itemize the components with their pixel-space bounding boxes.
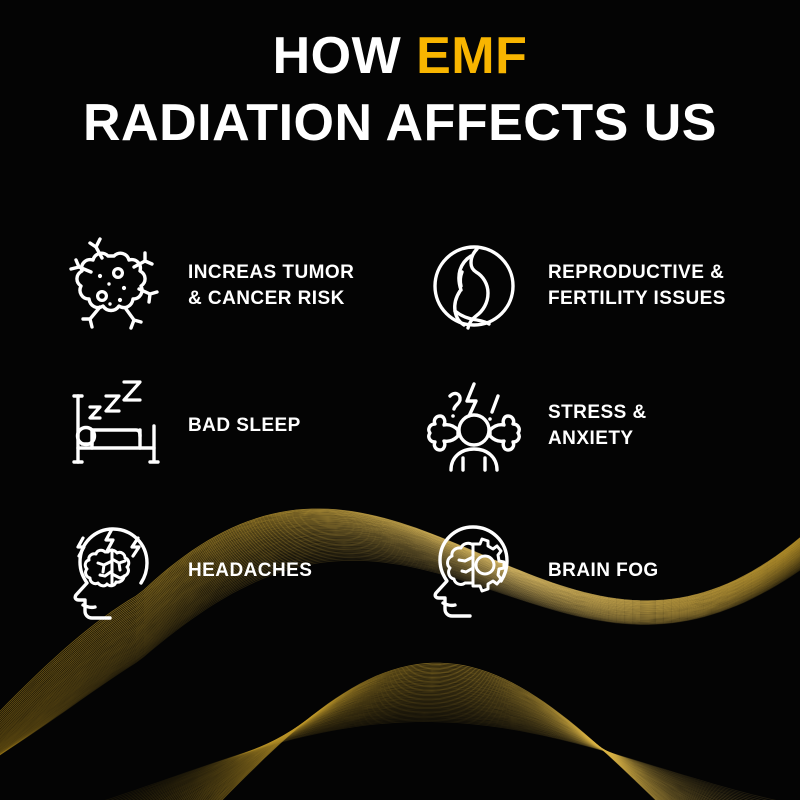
tumor-cell-icon — [62, 234, 166, 338]
list-item-brain-fog: BRAIN FOG — [422, 496, 762, 646]
page-title: HOW EMF RADIATION AFFECTS US — [0, 30, 800, 150]
list-item-label: STRESS & ANXIETY — [548, 400, 647, 452]
list-item-label: BAD SLEEP — [188, 413, 301, 439]
list-item-label: HEADACHES — [188, 558, 312, 584]
title-line-1: HOW EMF — [0, 30, 800, 83]
stressed-person-icon — [422, 374, 526, 478]
title-line-2: RADIATION AFFECTS US — [0, 97, 800, 150]
effects-list: INCREAS TUMOR & CANCER RISK REPRODUCTIVE… — [62, 216, 762, 646]
pregnant-woman-circle-icon — [422, 234, 526, 338]
infographic-canvas: HOW EMF RADIATION AFFECTS US — [0, 0, 800, 800]
bed-sleep-zzz-icon — [62, 374, 166, 478]
list-item-reproductive-fertility: REPRODUCTIVE & FERTILITY ISSUES — [422, 216, 762, 356]
list-item-stress-anxiety: STRESS & ANXIETY — [422, 356, 762, 496]
list-item-label: BRAIN FOG — [548, 558, 659, 584]
title-prefix: HOW — [273, 27, 417, 85]
list-item-bad-sleep: BAD SLEEP — [62, 356, 422, 496]
list-item-tumor-cancer: INCREAS TUMOR & CANCER RISK — [62, 216, 422, 356]
list-item-label: INCREAS TUMOR & CANCER RISK — [188, 260, 354, 312]
list-item-headaches: HEADACHES — [62, 496, 422, 646]
head-brain-gear-icon — [422, 519, 526, 623]
head-brain-lightning-icon — [62, 519, 166, 623]
title-accent-emf: EMF — [416, 27, 527, 85]
list-item-label: REPRODUCTIVE & FERTILITY ISSUES — [548, 260, 726, 312]
